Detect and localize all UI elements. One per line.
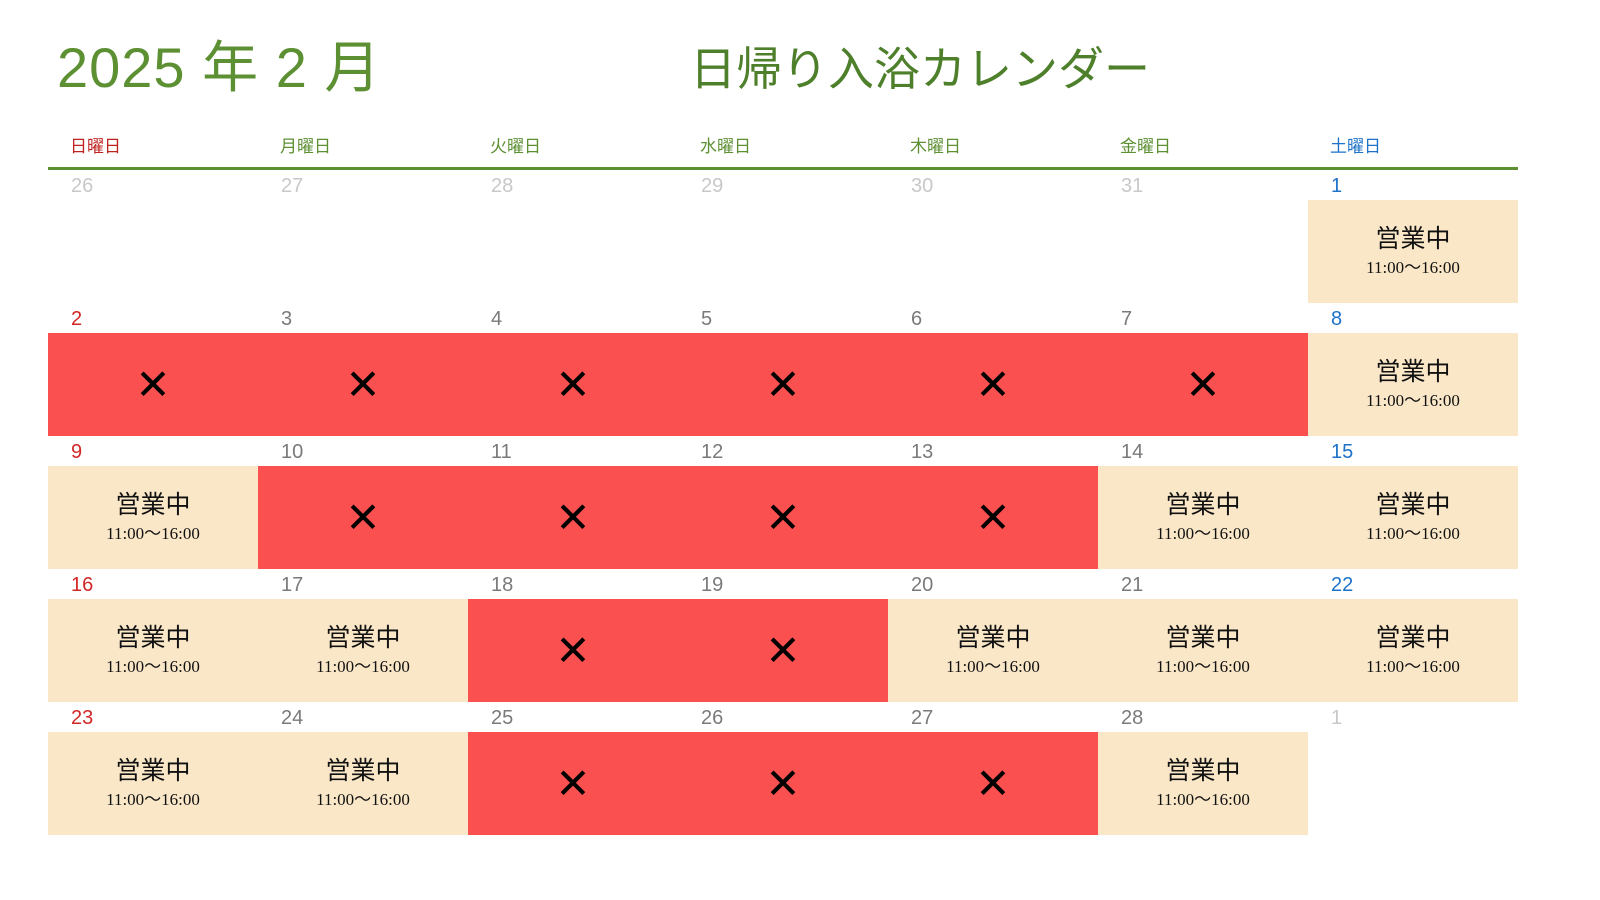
day-number: 23 xyxy=(71,706,93,730)
day-number: 21 xyxy=(1121,573,1143,597)
day-cell[interactable]: 26✕ xyxy=(678,702,888,835)
day-cell[interactable]: 13✕ xyxy=(888,436,1098,569)
open-status-hours: 11:00〜16:00 xyxy=(1366,655,1460,679)
day-cell[interactable]: 6✕ xyxy=(888,303,1098,436)
day-status-box: 営業中11:00〜16:00 xyxy=(258,599,468,702)
day-number: 26 xyxy=(701,706,723,730)
open-status-hours: 11:00〜16:00 xyxy=(106,522,200,546)
open-status-label: 営業中 xyxy=(1165,622,1240,654)
day-status-box xyxy=(678,200,888,303)
day-number: 1 xyxy=(1331,706,1342,730)
day-status-box xyxy=(468,200,678,303)
calendar-body: 2627282930311営業中11:00〜16:002✕3✕4✕5✕6✕7✕8… xyxy=(48,170,1518,835)
closed-status: ✕ xyxy=(678,466,888,569)
day-status-box: ✕ xyxy=(258,466,468,569)
day-number: 9 xyxy=(71,440,82,464)
closed-status: ✕ xyxy=(258,466,468,569)
day-number: 1 xyxy=(1331,174,1342,198)
day-cell[interactable]: 1営業中11:00〜16:00 xyxy=(1308,170,1518,303)
open-status: 営業中11:00〜16:00 xyxy=(888,599,1098,702)
day-number: 18 xyxy=(491,573,513,597)
open-status-label: 営業中 xyxy=(1165,755,1240,787)
page-header: 2025 年 2 月 日帰り入浴カレンダー xyxy=(0,32,1600,110)
day-cell[interactable]: 22営業中11:00〜16:00 xyxy=(1308,569,1518,702)
weekday-header-6: 土曜日 xyxy=(1308,136,1518,164)
day-number: 24 xyxy=(281,706,303,730)
day-cell[interactable]: 1 xyxy=(1308,702,1518,835)
day-cell[interactable]: 31 xyxy=(1098,170,1308,303)
week-row: 16営業中11:00〜16:0017営業中11:00〜16:0018✕19✕20… xyxy=(48,569,1518,702)
day-number: 12 xyxy=(701,440,723,464)
weekday-header-1: 月曜日 xyxy=(258,136,468,164)
weekday-header-row: 日曜日月曜日火曜日水曜日木曜日金曜日土曜日 xyxy=(48,136,1518,164)
open-status: 営業中11:00〜16:00 xyxy=(258,732,468,835)
day-cell[interactable]: 8営業中11:00〜16:00 xyxy=(1308,303,1518,436)
day-status-box: ✕ xyxy=(468,466,678,569)
day-status-box: 営業中11:00〜16:00 xyxy=(1308,200,1518,303)
open-status: 営業中11:00〜16:00 xyxy=(258,599,468,702)
day-status-box: ✕ xyxy=(888,466,1098,569)
open-status: 営業中11:00〜16:00 xyxy=(48,466,258,569)
day-number: 26 xyxy=(71,174,93,198)
day-status-box: ✕ xyxy=(1098,333,1308,436)
day-number: 25 xyxy=(491,706,513,730)
week-row: 9営業中11:00〜16:0010✕11✕12✕13✕14営業中11:00〜16… xyxy=(48,436,1518,569)
open-status-label: 営業中 xyxy=(325,755,400,787)
day-status-box: 営業中11:00〜16:00 xyxy=(888,599,1098,702)
day-cell[interactable]: 3✕ xyxy=(258,303,468,436)
closed-status: ✕ xyxy=(678,732,888,835)
day-status-box: 営業中11:00〜16:00 xyxy=(48,732,258,835)
open-status-hours: 11:00〜16:00 xyxy=(1156,655,1250,679)
open-status-label: 営業中 xyxy=(955,622,1030,654)
day-cell[interactable]: 11✕ xyxy=(468,436,678,569)
day-cell[interactable]: 12✕ xyxy=(678,436,888,569)
day-cell[interactable]: 24営業中11:00〜16:00 xyxy=(258,702,468,835)
day-cell[interactable]: 18✕ xyxy=(468,569,678,702)
day-status-box xyxy=(1098,200,1308,303)
week-row: 2627282930311営業中11:00〜16:00 xyxy=(48,170,1518,303)
day-number: 30 xyxy=(911,174,933,198)
calendar-grid: 日曜日月曜日火曜日水曜日木曜日金曜日土曜日 2627282930311営業中11… xyxy=(48,136,1518,835)
closed-x-icon: ✕ xyxy=(975,497,1010,539)
closed-x-icon: ✕ xyxy=(555,497,590,539)
day-number: 5 xyxy=(701,307,712,331)
day-cell[interactable]: 14営業中11:00〜16:00 xyxy=(1098,436,1308,569)
day-cell[interactable]: 28営業中11:00〜16:00 xyxy=(1098,702,1308,835)
open-status-hours: 11:00〜16:00 xyxy=(1156,522,1250,546)
day-status-box: ✕ xyxy=(888,333,1098,436)
day-status-box: 営業中11:00〜16:00 xyxy=(48,599,258,702)
page-title-subtitle: 日帰り入浴カレンダー xyxy=(690,38,1150,100)
day-number: 4 xyxy=(491,307,502,331)
closed-status: ✕ xyxy=(678,333,888,436)
day-cell[interactable]: 4✕ xyxy=(468,303,678,436)
day-status-box: ✕ xyxy=(48,333,258,436)
open-status: 営業中11:00〜16:00 xyxy=(1308,333,1518,436)
day-cell[interactable]: 21営業中11:00〜16:00 xyxy=(1098,569,1308,702)
day-status-box: 営業中11:00〜16:00 xyxy=(1098,732,1308,835)
week-row: 23営業中11:00〜16:0024営業中11:00〜16:0025✕26✕27… xyxy=(48,702,1518,835)
closed-status: ✕ xyxy=(888,333,1098,436)
day-status-box xyxy=(258,200,468,303)
open-status: 営業中11:00〜16:00 xyxy=(48,599,258,702)
open-status: 営業中11:00〜16:00 xyxy=(1308,200,1518,303)
open-status: 営業中11:00〜16:00 xyxy=(1098,599,1308,702)
open-status: 営業中11:00〜16:00 xyxy=(48,732,258,835)
day-number: 31 xyxy=(1121,174,1143,198)
day-status-box: ✕ xyxy=(468,333,678,436)
closed-status: ✕ xyxy=(888,732,1098,835)
day-status-box: 営業中11:00〜16:00 xyxy=(1308,333,1518,436)
day-cell[interactable]: 23営業中11:00〜16:00 xyxy=(48,702,258,835)
day-status-box: ✕ xyxy=(468,732,678,835)
weekday-header-4: 木曜日 xyxy=(888,136,1098,164)
closed-x-icon: ✕ xyxy=(345,364,380,406)
day-cell[interactable]: 28 xyxy=(468,170,678,303)
closed-x-icon: ✕ xyxy=(765,630,800,672)
day-status-box: 営業中11:00〜16:00 xyxy=(1308,599,1518,702)
day-number: 29 xyxy=(701,174,723,198)
day-number: 8 xyxy=(1331,307,1342,331)
open-status-label: 営業中 xyxy=(115,622,190,654)
open-status-label: 営業中 xyxy=(115,489,190,521)
weekday-header-2: 火曜日 xyxy=(468,136,678,164)
open-status-hours: 11:00〜16:00 xyxy=(1366,256,1460,280)
closed-x-icon: ✕ xyxy=(765,364,800,406)
day-status-box: ✕ xyxy=(678,732,888,835)
day-number: 2 xyxy=(71,307,82,331)
day-cell[interactable]: 10✕ xyxy=(258,436,468,569)
day-number: 7 xyxy=(1121,307,1132,331)
open-status-label: 営業中 xyxy=(1375,356,1450,388)
day-status-box: ✕ xyxy=(678,599,888,702)
day-cell[interactable]: 25✕ xyxy=(468,702,678,835)
day-status-box: ✕ xyxy=(468,599,678,702)
closed-status: ✕ xyxy=(678,599,888,702)
day-status-box xyxy=(1308,732,1518,835)
day-cell[interactable]: 2✕ xyxy=(48,303,258,436)
day-status-box: ✕ xyxy=(258,333,468,436)
day-number: 19 xyxy=(701,573,723,597)
open-status-hours: 11:00〜16:00 xyxy=(1156,788,1250,812)
open-status-label: 営業中 xyxy=(1375,489,1450,521)
closed-x-icon: ✕ xyxy=(555,630,590,672)
closed-x-icon: ✕ xyxy=(135,364,170,406)
weekday-header-0: 日曜日 xyxy=(48,136,258,164)
day-number: 3 xyxy=(281,307,292,331)
closed-status: ✕ xyxy=(468,333,678,436)
weekday-header-5: 金曜日 xyxy=(1098,136,1308,164)
open-status-hours: 11:00〜16:00 xyxy=(1366,522,1460,546)
day-cell[interactable]: 5✕ xyxy=(678,303,888,436)
open-status-label: 営業中 xyxy=(115,755,190,787)
day-number: 14 xyxy=(1121,440,1143,464)
closed-status: ✕ xyxy=(468,732,678,835)
closed-x-icon: ✕ xyxy=(555,364,590,406)
day-number: 22 xyxy=(1331,573,1353,597)
closed-status: ✕ xyxy=(258,333,468,436)
day-number: 16 xyxy=(71,573,93,597)
day-cell[interactable]: 17営業中11:00〜16:00 xyxy=(258,569,468,702)
week-row: 2✕3✕4✕5✕6✕7✕8営業中11:00〜16:00 xyxy=(48,303,1518,436)
day-cell[interactable]: 15営業中11:00〜16:00 xyxy=(1308,436,1518,569)
day-status-box: ✕ xyxy=(678,466,888,569)
day-status-box xyxy=(48,200,258,303)
closed-x-icon: ✕ xyxy=(1185,364,1220,406)
closed-x-icon: ✕ xyxy=(765,497,800,539)
open-status: 営業中11:00〜16:00 xyxy=(1098,732,1308,835)
day-status-box: 営業中11:00〜16:00 xyxy=(258,732,468,835)
day-status-box: ✕ xyxy=(678,333,888,436)
open-status-label: 営業中 xyxy=(1375,622,1450,654)
closed-x-icon: ✕ xyxy=(345,497,380,539)
closed-status: ✕ xyxy=(888,466,1098,569)
day-number: 6 xyxy=(911,307,922,331)
day-cell[interactable]: 26 xyxy=(48,170,258,303)
day-number: 27 xyxy=(281,174,303,198)
closed-x-icon: ✕ xyxy=(765,763,800,805)
day-status-box: 営業中11:00〜16:00 xyxy=(48,466,258,569)
day-status-box: 営業中11:00〜16:00 xyxy=(1098,466,1308,569)
weekday-header-3: 水曜日 xyxy=(678,136,888,164)
day-number: 13 xyxy=(911,440,933,464)
day-status-box: 営業中11:00〜16:00 xyxy=(1098,599,1308,702)
day-number: 15 xyxy=(1331,440,1353,464)
closed-status: ✕ xyxy=(468,599,678,702)
day-cell[interactable]: 27 xyxy=(258,170,468,303)
day-cell[interactable]: 19✕ xyxy=(678,569,888,702)
day-number: 11 xyxy=(491,440,512,464)
open-status-hours: 11:00〜16:00 xyxy=(316,788,410,812)
open-status-hours: 11:00〜16:00 xyxy=(106,655,200,679)
closed-status: ✕ xyxy=(468,466,678,569)
open-status-hours: 11:00〜16:00 xyxy=(106,788,200,812)
open-status-label: 営業中 xyxy=(325,622,400,654)
day-number: 10 xyxy=(281,440,303,464)
calendar-page: 2025 年 2 月 日帰り入浴カレンダー 日曜日月曜日火曜日水曜日木曜日金曜日… xyxy=(0,0,1600,900)
page-title-year-month: 2025 年 2 月 xyxy=(57,32,381,104)
open-status: 営業中11:00〜16:00 xyxy=(1308,466,1518,569)
closed-x-icon: ✕ xyxy=(975,763,1010,805)
day-status-box: 営業中11:00〜16:00 xyxy=(1308,466,1518,569)
open-status: 営業中11:00〜16:00 xyxy=(1308,599,1518,702)
open-status-label: 営業中 xyxy=(1375,223,1450,255)
day-cell[interactable]: 16営業中11:00〜16:00 xyxy=(48,569,258,702)
day-cell[interactable]: 7✕ xyxy=(1098,303,1308,436)
day-number: 28 xyxy=(491,174,513,198)
day-status-box: ✕ xyxy=(888,732,1098,835)
day-cell[interactable]: 9営業中11:00〜16:00 xyxy=(48,436,258,569)
day-cell[interactable]: 30 xyxy=(888,170,1098,303)
open-status-hours: 11:00〜16:00 xyxy=(1366,389,1460,413)
day-status-box xyxy=(888,200,1098,303)
open-status-hours: 11:00〜16:00 xyxy=(316,655,410,679)
closed-x-icon: ✕ xyxy=(975,364,1010,406)
day-number: 20 xyxy=(911,573,933,597)
open-status-hours: 11:00〜16:00 xyxy=(946,655,1040,679)
open-status: 営業中11:00〜16:00 xyxy=(1098,466,1308,569)
day-number: 27 xyxy=(911,706,933,730)
closed-x-icon: ✕ xyxy=(555,763,590,805)
day-cell[interactable]: 27✕ xyxy=(888,702,1098,835)
closed-status: ✕ xyxy=(1098,333,1308,436)
day-cell[interactable]: 29 xyxy=(678,170,888,303)
open-status-label: 営業中 xyxy=(1165,489,1240,521)
closed-status: ✕ xyxy=(48,333,258,436)
day-number: 28 xyxy=(1121,706,1143,730)
day-number: 17 xyxy=(281,573,303,597)
day-cell[interactable]: 20営業中11:00〜16:00 xyxy=(888,569,1098,702)
